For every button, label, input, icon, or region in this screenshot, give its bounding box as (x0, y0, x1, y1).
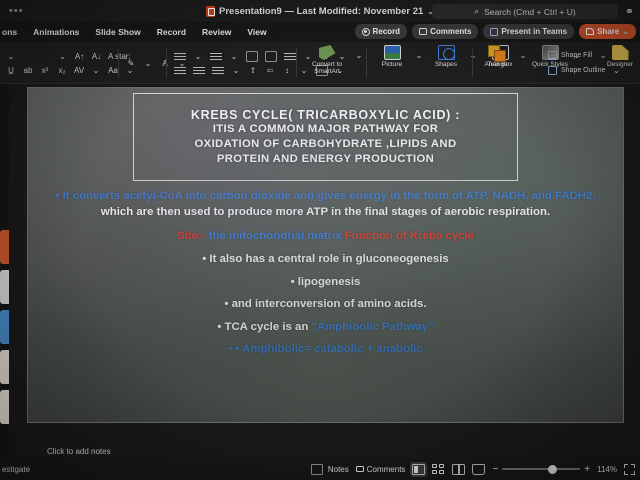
font-color-icon[interactable]: A (160, 58, 171, 69)
picture-label: Picture (382, 61, 402, 68)
zoom-out-button[interactable]: − (492, 464, 498, 475)
rtl-icon[interactable]: ⇦ (265, 65, 276, 76)
search-icon: ⌕ (474, 6, 479, 17)
text-direction-icon[interactable]: ⇧ (248, 65, 259, 76)
chevron-down-icon[interactable]: ⌄ (91, 65, 102, 76)
accessibility-icon[interactable]: ⚭ (625, 5, 634, 18)
chevron-down-icon[interactable]: ⌄ (231, 65, 242, 76)
slide-bullet-1-blue: • It converts acetyl-CoA into carbon dio… (55, 190, 595, 202)
grow-font-icon[interactable]: A↑ (74, 51, 85, 62)
subscript-icon[interactable]: x₂ (57, 65, 68, 76)
macos-dock[interactable] (0, 70, 9, 470)
tab-review[interactable]: Review (194, 27, 239, 37)
ribbon-actions: Record Comments Present in Teams Share ⌄ (355, 24, 637, 39)
designer-button[interactable]: Designer (600, 43, 640, 83)
zoom-slider[interactable]: − + (492, 464, 590, 475)
slide-title-line-2: ITIS A COMMON MAJOR PATHWAY FOR (213, 122, 439, 137)
powerpoint-window: ••• Presentation9 — Last Modified: Novem… (0, 0, 640, 480)
chevron-down-icon[interactable]: ⌄ (143, 58, 154, 69)
title-bar: ••• Presentation9 — Last Modified: Novem… (0, 0, 640, 22)
search-placeholder: Search (Cmd + Ctrl + U) (484, 7, 576, 17)
presenter-view-button[interactable] (472, 464, 485, 475)
notes-button-label: Notes (328, 465, 349, 474)
chevron-down-icon[interactable]: ⌄ (193, 51, 204, 62)
slide-function-heading: Function of Krebs cycle (345, 230, 474, 242)
fit-to-window-button[interactable] (624, 464, 635, 475)
notes-button[interactable]: Notes (309, 464, 349, 475)
dock-icon-2[interactable] (0, 270, 9, 304)
increase-indent-icon[interactable] (265, 51, 277, 62)
strikethrough-icon[interactable]: ab (23, 65, 34, 76)
slide-site-value: the mitochondrial matrix (209, 230, 342, 242)
reading-view-button[interactable] (452, 464, 465, 475)
shapes-label: Shapes (435, 61, 457, 68)
slide-body-placeholder[interactable]: • It converts acetyl-CoA into carbon dio… (38, 188, 613, 359)
dock-icon-4[interactable] (0, 350, 9, 384)
character-spacing-icon[interactable]: AV (74, 65, 85, 76)
ribbon-tab-bar: ons Animations Slide Show Record Review … (0, 22, 640, 42)
slide-bullet-5-white: • TCA cycle is an (217, 321, 311, 333)
slide-bullet-6: • • Amphibolic= catabolic + anabolic (38, 341, 613, 357)
search-input[interactable]: ⌕ Search (Cmd + Ctrl + U) (432, 4, 618, 19)
zoom-track[interactable] (502, 468, 580, 470)
slide-editing-area: KREBS CYCLE( TRICARBOXYLIC ACID) : ITIS … (9, 84, 640, 441)
comments-button-label: Comments (430, 27, 471, 36)
shrink-font-icon[interactable]: A↓ (91, 51, 102, 62)
tab-record[interactable]: Record (149, 27, 194, 37)
tab-view[interactable]: View (239, 27, 274, 37)
smartart-icon (319, 45, 336, 60)
slide-bullet-5: • TCA cycle is an "Amphibolic Pathway" (38, 319, 613, 335)
slide-site-line: Site:- the mitochondrial matrix Function… (38, 228, 613, 244)
slide-title-line-3: OXIDATION OF CARBOHYDRATE ,LIPIDS AND (195, 137, 457, 152)
line-spacing-icon[interactable] (284, 52, 296, 61)
tab-slide-show[interactable]: Slide Show (87, 27, 148, 37)
slide-sorter-view-button[interactable] (432, 464, 445, 475)
slide-title-line-4: PROTEIN AND ENERGY PRODUCTION (217, 152, 434, 167)
superscript-icon[interactable]: x² (40, 65, 51, 76)
slide-title-placeholder[interactable]: KREBS CYCLE( TRICARBOXYLIC ACID) : ITIS … (133, 93, 518, 181)
chevron-down-icon[interactable]: ⌄ (414, 50, 425, 61)
designer-icon (612, 45, 629, 60)
dock-icon-1[interactable] (0, 230, 9, 264)
slide-bullet-1-white: which are then used to produce more ATP … (101, 206, 550, 218)
convert-to-smartart-button[interactable]: Convert to SmartArt (302, 43, 352, 83)
normal-view-button[interactable] (412, 464, 425, 475)
share-button[interactable]: Share ⌄ (579, 24, 636, 39)
arrange-label: Arrange (484, 61, 507, 68)
align-left-icon[interactable] (174, 66, 186, 75)
ribbon-toolbar: ⌄ ⌄ A↑ A↓ A star; U̲ ab x² x₂ AV ⌄ Aa ⌄ (0, 42, 640, 84)
notes-placeholder: Click to add notes (9, 447, 111, 456)
status-bar: estigate Notes Comments − + 114% (0, 458, 640, 480)
present-in-teams-button[interactable]: Present in Teams (483, 24, 574, 39)
comments-status-button[interactable]: Comments (356, 465, 406, 474)
highlight-color-icon[interactable]: ✎ (126, 58, 137, 69)
picture-icon (384, 45, 401, 60)
record-button-label: Record (373, 27, 401, 36)
dock-icon-5[interactable] (0, 390, 9, 424)
slide-bullet-3: • lipogenesis (38, 274, 613, 290)
slide-canvas[interactable]: KREBS CYCLE( TRICARBOXYLIC ACID) : ITIS … (28, 88, 623, 422)
align-text-icon[interactable]: ↕ (282, 65, 293, 76)
document-title-text: Presentation9 — Last Modified: November … (219, 6, 423, 17)
record-button[interactable]: Record (355, 24, 408, 39)
slide-bullet-1: • It converts acetyl-CoA into carbon dio… (38, 188, 613, 220)
tab-animations[interactable]: Animations (25, 27, 87, 37)
chevron-down-icon[interactable]: ⌄ (6, 51, 17, 62)
arrange-button[interactable]: Arrange (476, 43, 516, 83)
arrange-icon (488, 45, 505, 60)
shapes-button[interactable]: Shapes (426, 43, 466, 83)
present-in-teams-label: Present in Teams (501, 27, 567, 36)
change-case-icon[interactable]: Aa (108, 65, 119, 76)
comments-button[interactable]: Comments (412, 24, 478, 39)
comment-bubble-icon (419, 28, 427, 35)
zoom-level-label: 114% (597, 465, 617, 474)
convert-to-smartart-label: Convert to SmartArt (302, 61, 352, 75)
align-right-icon[interactable] (212, 66, 224, 75)
share-button-label: Share (597, 27, 619, 36)
picture-button[interactable]: Picture (372, 43, 412, 83)
decrease-indent-icon[interactable] (246, 51, 258, 62)
notes-icon (311, 464, 323, 475)
chevron-down-icon: ⌄ (622, 27, 629, 36)
dock-icon-3[interactable] (0, 310, 9, 344)
chevron-down-icon[interactable]: ⌄ (229, 51, 240, 62)
shapes-icon (438, 45, 455, 60)
bulleted-list-icon[interactable] (174, 52, 186, 61)
chevron-down-icon[interactable]: ⌄ (518, 50, 529, 61)
comments-status-label: Comments (367, 465, 406, 474)
chevron-down-icon[interactable]: ⌄ (57, 51, 68, 62)
record-circle-icon (362, 28, 370, 36)
chevron-down-icon[interactable]: ⌄ (354, 50, 365, 61)
share-icon (586, 28, 594, 35)
slide-bullet-5-blue: "Amphibolic Pathway" (311, 321, 433, 333)
status-right-controls: Notes Comments − + 114% (309, 458, 635, 480)
zoom-in-button[interactable]: + (584, 464, 590, 475)
slide-site-label: Site:- (177, 230, 205, 242)
powerpoint-file-icon (206, 6, 215, 17)
zoom-knob[interactable] (548, 465, 557, 474)
teams-icon (490, 28, 498, 36)
slide-title-line-1: KREBS CYCLE( TRICARBOXYLIC ACID) : (191, 108, 460, 122)
designer-label: Designer (607, 61, 633, 68)
slide-bullet-2: • It also has a central role in gluconeo… (38, 251, 613, 267)
comment-bubble-icon (356, 466, 364, 473)
slide-bullet-4: • and interconversion of amino acids. (38, 296, 613, 312)
numbered-list-icon[interactable] (210, 52, 222, 61)
align-center-icon[interactable] (193, 66, 205, 75)
tab-transitions[interactable]: ons (2, 27, 25, 37)
